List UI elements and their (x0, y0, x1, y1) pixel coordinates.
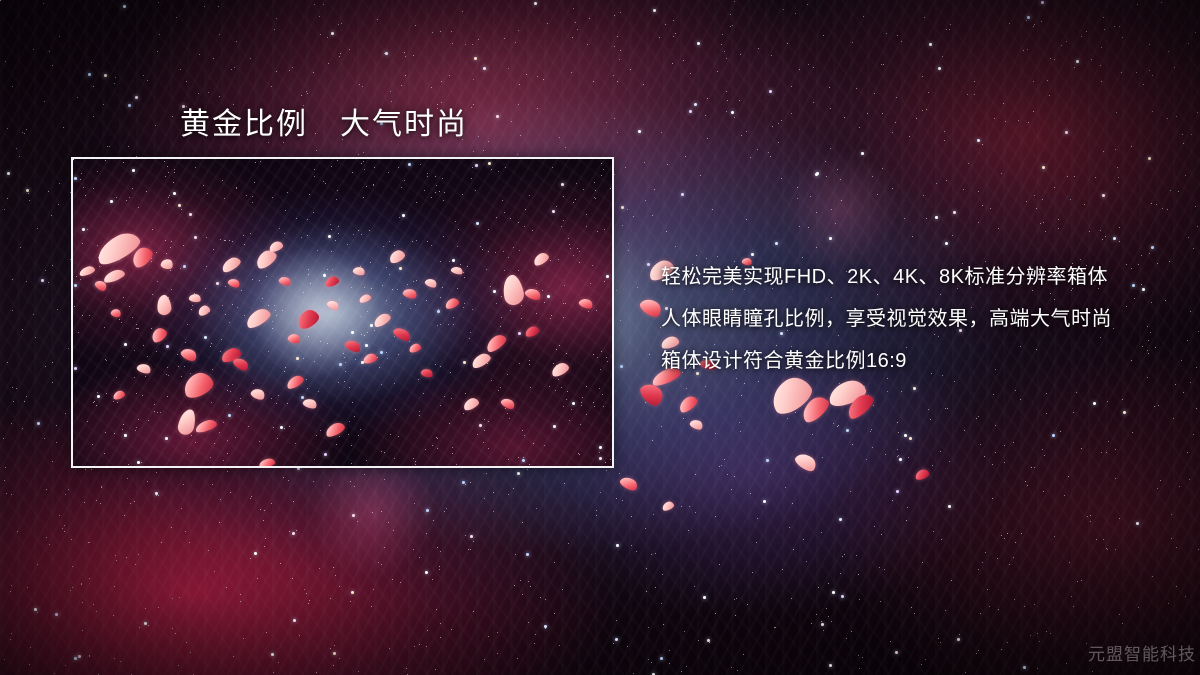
presentation-slide: 黄金比例 大气时尚 轻松完美实现FHD、2K、4K、8K标准分辨率箱体 人体眼睛… (0, 0, 1200, 675)
panel-core-glow (73, 159, 612, 466)
body-line-3: 箱体设计符合黄金比例16:9 (661, 340, 1112, 382)
body-text-block: 轻松完美实现FHD、2K、4K、8K标准分辨率箱体 人体眼睛瞳孔比例，享受视觉效… (661, 256, 1112, 382)
body-line-1: 轻松完美实现FHD、2K、4K、8K标准分辨率箱体 (661, 256, 1112, 298)
company-watermark: 元盟智能科技 (1088, 640, 1196, 665)
framed-preview-image (71, 157, 614, 468)
page-title: 黄金比例 大气时尚 (180, 99, 468, 143)
body-line-2: 人体眼睛瞳孔比例，享受视觉效果，高端大气时尚 (661, 298, 1112, 340)
